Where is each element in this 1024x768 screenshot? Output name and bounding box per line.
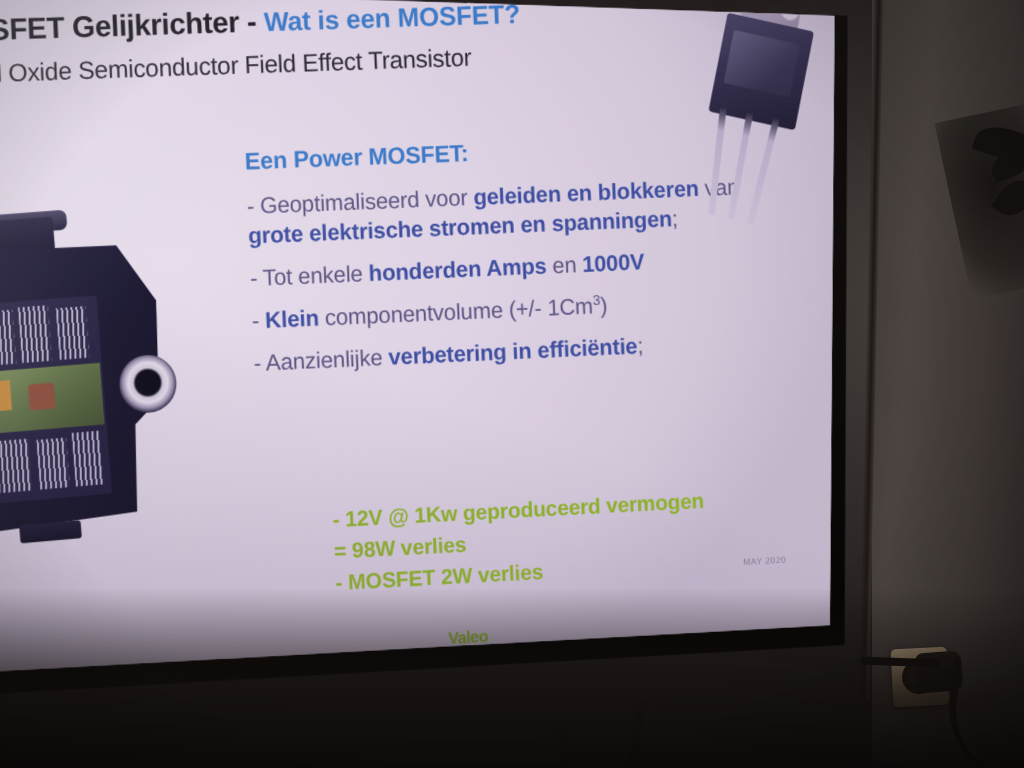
bullet-emphasis: honderden Amps bbox=[368, 253, 547, 286]
slide-footer-date: MAY 2020 bbox=[743, 555, 786, 567]
to220-transistor-photo bbox=[685, 0, 832, 223]
presentation-slide: ...bouw iBSG MOSFET Gelijkrichter - Wat … bbox=[0, 0, 837, 684]
pcb-component bbox=[0, 439, 32, 494]
bullet-emphasis: Klein bbox=[265, 305, 320, 333]
bullet-text: ; bbox=[637, 332, 644, 358]
transistor-mount-hole bbox=[779, 0, 802, 22]
transistor-lead bbox=[747, 117, 780, 224]
module-pcb bbox=[0, 295, 112, 504]
slide-bullet: - Tot enkele honderden Amps en 1000V bbox=[249, 243, 747, 293]
slide-bullet-list: - Geoptimaliseerd voor geleiden en blokk… bbox=[246, 173, 751, 378]
slide-green-conclusion: - 12V @ 1Kw geproduceerd vermogen = 98W … bbox=[332, 485, 707, 599]
bullet-emphasis: geleiden en blokkeren bbox=[473, 176, 699, 210]
pcb-component bbox=[72, 431, 104, 487]
slide-body: Een Power MOSFET: - Geoptimaliseerd voor… bbox=[244, 130, 752, 391]
bullet-emphasis: 1000V bbox=[582, 249, 645, 277]
slide-title-question: Wat is een MOSFET? bbox=[263, 0, 520, 37]
module-bottom-foot bbox=[19, 520, 82, 543]
tv-screen: ...bouw iBSG MOSFET Gelijkrichter - Wat … bbox=[0, 0, 837, 684]
transistor-lead bbox=[708, 106, 726, 215]
bullet-text: - Tot enkele bbox=[249, 260, 369, 291]
bullet-text: componentvolume (+/- 1Cm bbox=[318, 293, 593, 331]
pcb-component bbox=[36, 437, 70, 489]
bullet-text: ; bbox=[671, 206, 678, 231]
bullet-text: - Aanzienlijke bbox=[253, 344, 389, 376]
slide-surface: ...bouw iBSG MOSFET Gelijkrichter - Wat … bbox=[0, 0, 837, 684]
pcb-component bbox=[18, 305, 52, 363]
power-module-photo bbox=[0, 206, 190, 560]
transistor-lead bbox=[728, 112, 754, 220]
bullet-text: - bbox=[251, 307, 265, 333]
slide-title: MOSFET Gelijkrichter - Wat is een MOSFET… bbox=[0, 0, 521, 50]
slide-bullet: - Klein componentvolume (+/- 1Cm3) bbox=[251, 285, 749, 336]
bullet-text: ) bbox=[600, 292, 608, 318]
slide-bullet: - Geoptimaliseerd voor geleiden en blokk… bbox=[246, 173, 746, 251]
slide-lead-line: Een Power MOSFET: bbox=[244, 130, 742, 176]
pcb-component bbox=[0, 310, 16, 366]
pcb-component bbox=[56, 306, 90, 360]
room-photo-scene: ...bouw iBSG MOSFET Gelijkrichter - Wat … bbox=[0, 0, 1024, 768]
pcb-green-board bbox=[0, 363, 105, 434]
bullet-text: - Geoptimaliseerd voor bbox=[246, 184, 474, 218]
bullet-emphasis: verbetering in efficiëntie bbox=[388, 333, 638, 370]
slide-bullet: - Aanzienlijke verbetering in efficiënti… bbox=[253, 326, 751, 378]
slide-title-black: MOSFET Gelijkrichter - bbox=[0, 6, 257, 49]
slide-subtitle: Metal Oxide Semiconductor Field Effect T… bbox=[0, 44, 472, 91]
room-floor-shadow bbox=[0, 588, 1024, 768]
bullet-text: en bbox=[546, 251, 583, 278]
